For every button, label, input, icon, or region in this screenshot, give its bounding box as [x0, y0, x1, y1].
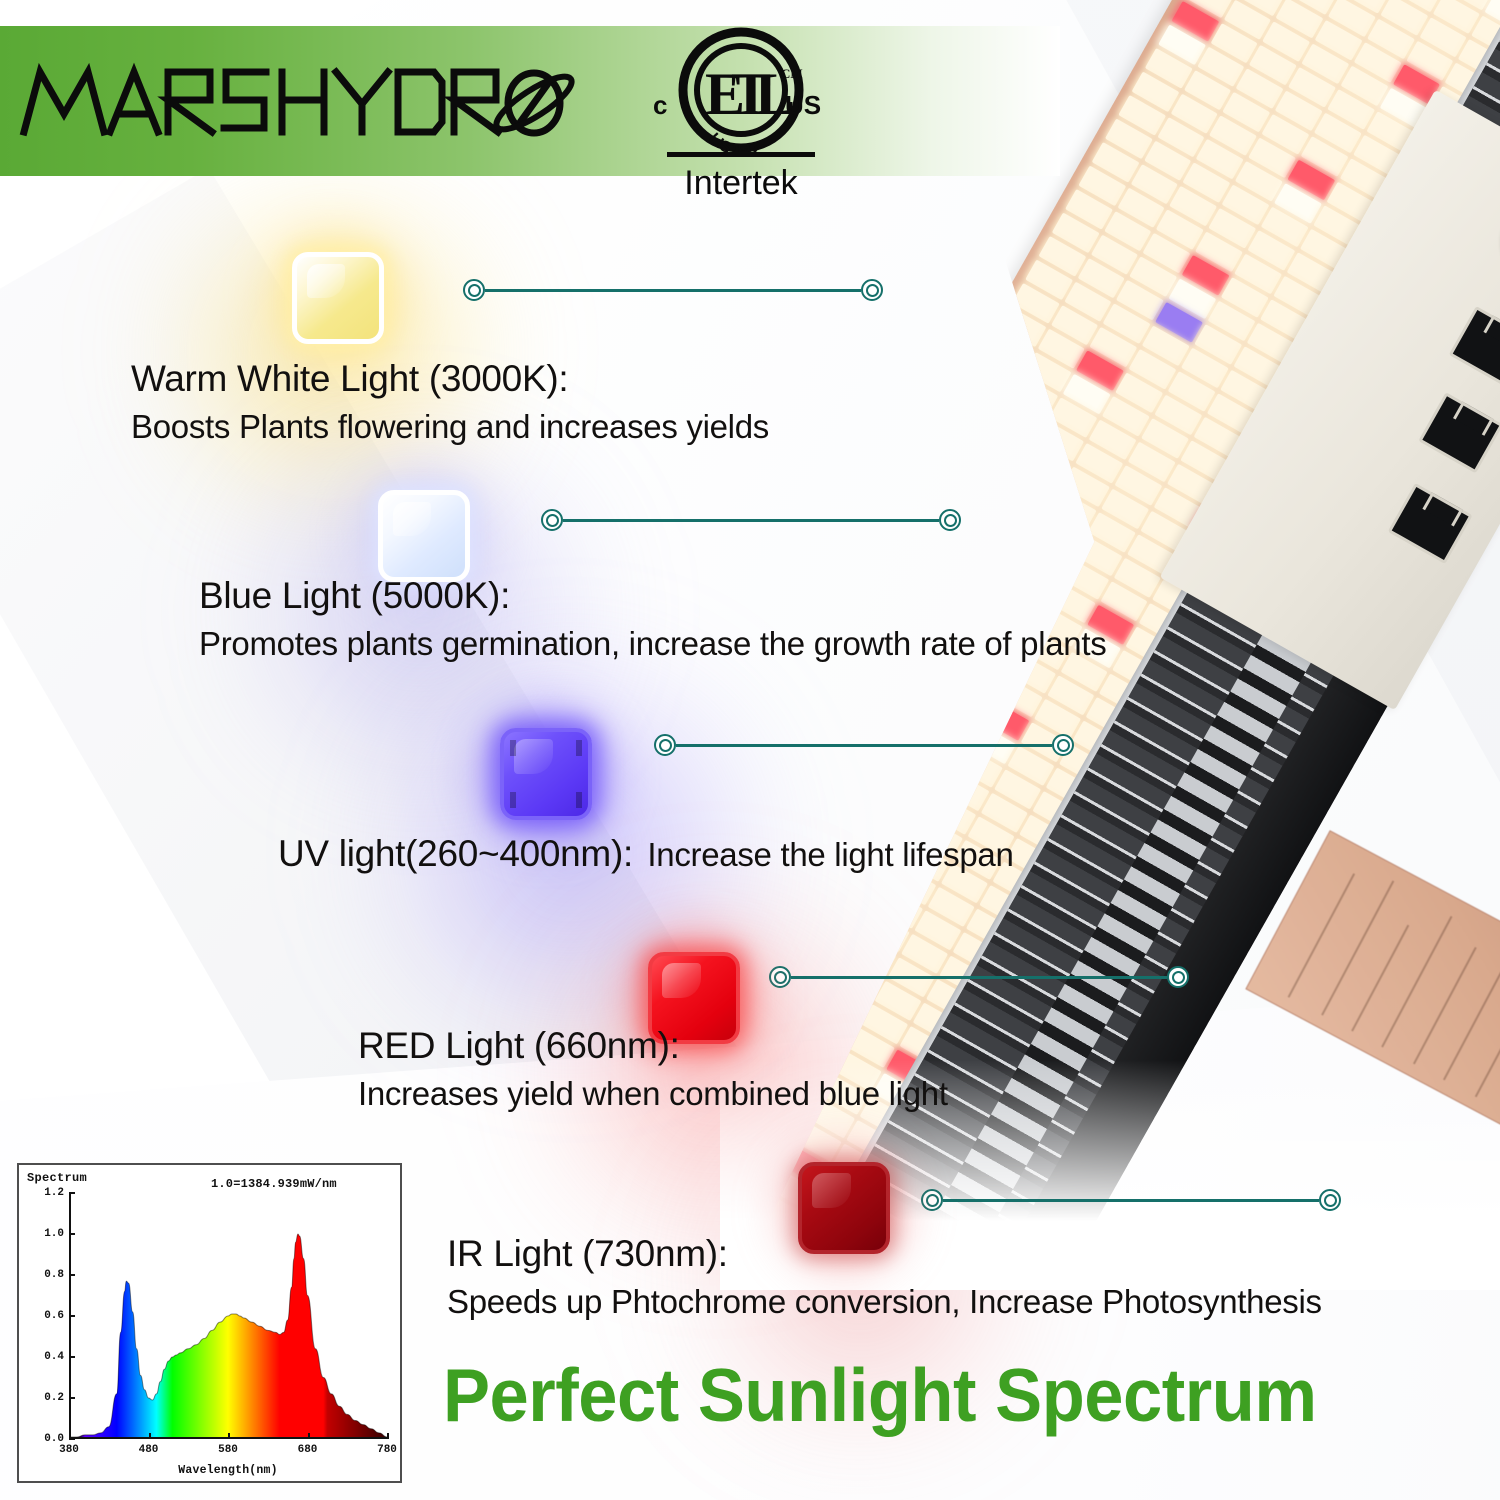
connector-line-blue — [541, 508, 961, 532]
led-diode — [972, 353, 1020, 394]
chart-x-tick-label: 480 — [139, 1444, 159, 1456]
led-diode — [889, 772, 937, 813]
feature-title: Blue Light (5000K): — [199, 572, 1106, 621]
chart-y-tick-label: 1.2 — [44, 1187, 64, 1199]
led-diode — [1023, 445, 1071, 486]
chart-y-tick-mark — [69, 1356, 75, 1358]
chart-x-tick-mark — [69, 1433, 71, 1439]
feature-title: RED Light (660nm): — [358, 1022, 948, 1071]
connector-dot-end — [1319, 1189, 1341, 1211]
connector-bar — [943, 1199, 1319, 1202]
svg-text:CM: CM — [781, 66, 803, 81]
feature-label-warm-white: Warm White Light (3000K): Boosts Plants … — [131, 355, 769, 449]
feature-description: Promotes plants germination, increase th… — [199, 621, 1106, 667]
led-diode — [810, 913, 858, 954]
led-diode — [983, 515, 1031, 556]
connector-dot-start — [541, 509, 563, 531]
spectrum-chart: Spectrum 1.0=1384.939mW/nm 0.00.20.40.60… — [17, 1163, 402, 1483]
dimmer-knob-icon — [1488, 182, 1500, 299]
chart-y-tick-mark — [69, 1274, 75, 1276]
chart-x-tick-mark — [149, 1433, 151, 1439]
chart-x-tick-mark — [228, 1433, 230, 1439]
led-chip-warm-white-icon — [292, 252, 384, 344]
infographic-page: E T L CM c US LISTED Intertek — [0, 0, 1500, 1500]
mars-hydro-logo-icon — [18, 58, 578, 144]
chart-y-tick-mark — [69, 1233, 75, 1235]
connector-dot-end — [939, 509, 961, 531]
connector-line-ir — [921, 1188, 1341, 1212]
led-diode — [998, 399, 1046, 440]
connector-line-red — [769, 965, 1189, 989]
chart-y-tick-label: 0.2 — [44, 1392, 64, 1404]
led-diode — [746, 753, 794, 794]
connector-line-warm-white — [463, 278, 883, 302]
led-diode — [919, 447, 967, 488]
chart-x-tick-label: 680 — [298, 1444, 318, 1456]
led-diode — [958, 470, 1006, 511]
led-diode — [971, 446, 1019, 487]
feature-description: Boosts Plants flowering and increases yi… — [131, 404, 769, 450]
etl-certification-icon: E T L CM c US LISTED Intertek — [645, 22, 835, 200]
chart-x-tick-mark — [387, 1433, 389, 1439]
led-diode — [862, 912, 910, 953]
rj-port-icon — [1418, 392, 1500, 473]
connector-bar — [563, 519, 939, 522]
chart-y-tick-label: 1.0 — [44, 1228, 64, 1240]
power-switch-icon — [1388, 483, 1473, 564]
page-headline: Perfect Sunlight Spectrum — [443, 1352, 1317, 1438]
led-diode — [959, 377, 1007, 418]
led-diode — [786, 682, 834, 723]
feature-label-blue: Blue Light (5000K): Promotes plants germ… — [199, 572, 1106, 666]
chart-normalization-note: 1.0=1384.939mW/nm — [211, 1177, 337, 1191]
connector-dot-start — [921, 1189, 943, 1211]
led-diode — [1036, 514, 1084, 555]
led-diode — [928, 794, 976, 835]
feature-description: Speeds up Phtochrome conversion, Increas… — [447, 1279, 1322, 1325]
rj-port-icon — [1449, 306, 1500, 387]
chart-y-tick-mark — [69, 1192, 75, 1194]
feature-description: Increase the light lifespan — [647, 836, 1013, 873]
connector-dot-end — [861, 279, 883, 301]
led-chip-uv-icon — [500, 728, 592, 820]
connector-dot-end — [1167, 966, 1189, 988]
led-diode — [837, 774, 885, 815]
feature-title: Warm White Light (3000K): — [131, 355, 769, 404]
led-diode — [1010, 468, 1058, 509]
feature-description: Increases yield when combined blue light — [358, 1071, 948, 1117]
led-diode — [932, 424, 980, 465]
chart-x-axis-label: Wavelength(nm) — [69, 1464, 387, 1477]
feature-label-red: RED Light (660nm): Increases yield when … — [358, 1022, 948, 1116]
led-diode — [785, 775, 833, 816]
svg-text:Intertek: Intertek — [684, 164, 798, 200]
connector-bar — [676, 744, 1052, 747]
connector-dot-end — [1052, 734, 1074, 756]
led-diode — [733, 776, 781, 817]
led-diode — [823, 890, 871, 931]
feature-label-uv: UV light(260~400nm): Increase the light … — [278, 830, 1014, 879]
connector-dot-start — [463, 279, 485, 301]
chart-y-tick-mark — [69, 1315, 75, 1317]
led-diode — [890, 680, 938, 721]
led-diode — [943, 678, 991, 719]
led-diode — [984, 423, 1032, 464]
chart-y-tick-label: 0.6 — [44, 1310, 64, 1322]
chart-y-tick-label: 0.4 — [44, 1351, 64, 1363]
connector-bar — [791, 976, 1167, 979]
led-diode — [945, 400, 993, 441]
chart-x-tick-label: 380 — [59, 1444, 79, 1456]
led-diode — [985, 330, 1033, 371]
connector-line-uv — [654, 733, 1074, 757]
feature-title: IR Light (730nm): — [447, 1230, 1322, 1279]
svg-text:US: US — [785, 90, 821, 120]
feature-label-ir: IR Light (730nm): Speeds up Phtochrome c… — [447, 1230, 1322, 1324]
chart-x-tick-label: 580 — [218, 1444, 238, 1456]
svg-text:c: c — [653, 90, 667, 120]
connector-bar — [485, 289, 861, 292]
chart-plot-area: 0.00.20.40.60.81.01.2380480580680780 — [69, 1193, 387, 1439]
chart-x-tick-mark — [308, 1433, 310, 1439]
led-diode — [838, 681, 886, 722]
chart-title: Spectrum — [27, 1171, 87, 1185]
led-chip-blue-icon — [378, 490, 470, 582]
connector-dot-start — [654, 734, 676, 756]
led-diode — [798, 751, 846, 792]
chart-y-tick-mark — [69, 1397, 75, 1399]
led-diode — [997, 492, 1045, 533]
chart-x-tick-label: 780 — [377, 1444, 397, 1456]
feature-title: UV light(260~400nm): — [278, 833, 633, 874]
chart-y-tick-label: 0.8 — [44, 1269, 64, 1281]
led-diode — [875, 888, 923, 929]
led-diode — [770, 984, 818, 1025]
led-diode — [906, 471, 954, 512]
spectrum-area — [69, 1234, 387, 1439]
led-diode — [771, 891, 819, 932]
